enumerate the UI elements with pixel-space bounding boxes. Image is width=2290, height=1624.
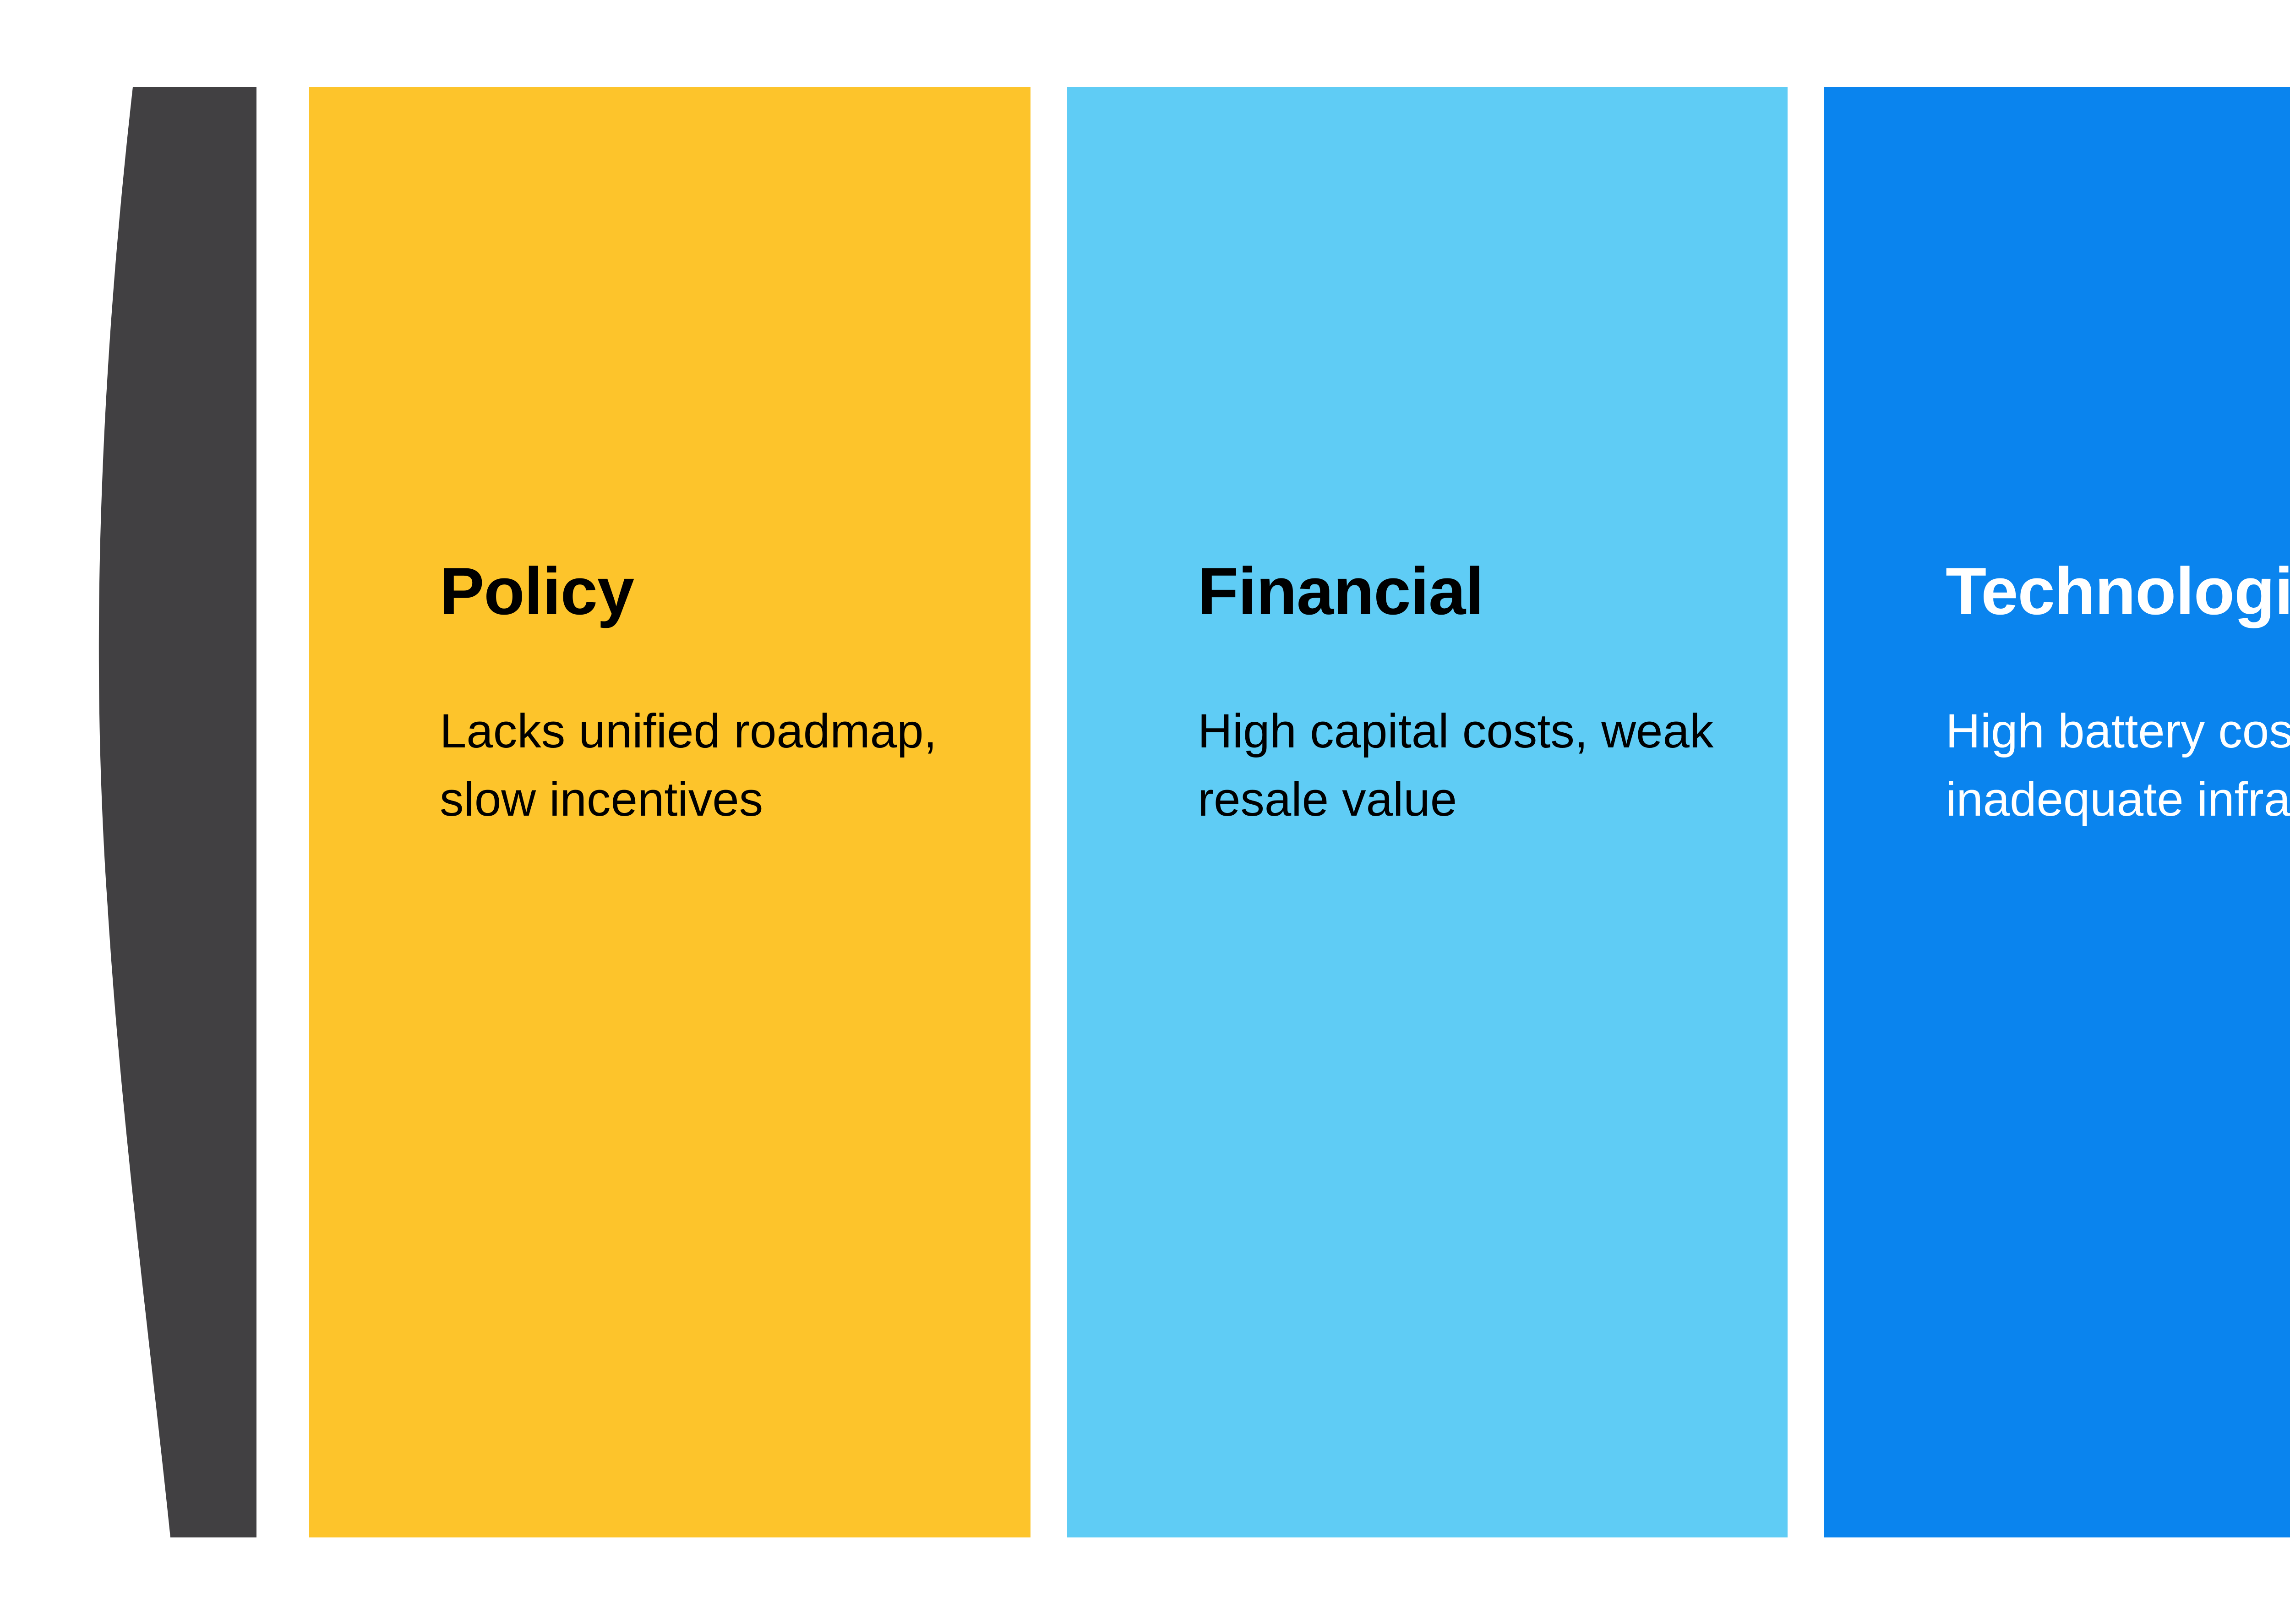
segment-financial[interactable]: Financial High capital costs, weak resal… [1067,87,1788,1537]
segment-title-policy: Policy [440,558,1003,625]
segment-title-financial: Financial [1198,558,1760,625]
battery-left-cap-shape [99,87,256,1537]
segment-body-policy: Lacks unified roadmap, slow incentives [440,697,1003,834]
segment-body-financial: High capital costs, weak resale value [1198,697,1760,834]
segment-body-technological: High battery costs, inadequate infrastru… [1946,697,2290,834]
segment-top-spacer [440,87,1003,558]
segment-title-technological: Technological [1946,558,2290,625]
segment-policy[interactable]: Policy Lacks unified roadmap, slow incen… [309,87,1030,1537]
battery-segment-list: Policy Lacks unified roadmap, slow incen… [309,87,2290,1537]
segment-top-spacer [1198,87,1760,558]
segment-top-spacer [1946,87,2290,558]
segment-technological[interactable]: Technological High battery costs, inadeq… [1824,87,2290,1537]
segment-gap-2 [1788,87,1824,1537]
battery-barriers-infographic: Policy Lacks unified roadmap, slow incen… [0,0,2290,1624]
segment-gap-1 [1030,87,1067,1537]
